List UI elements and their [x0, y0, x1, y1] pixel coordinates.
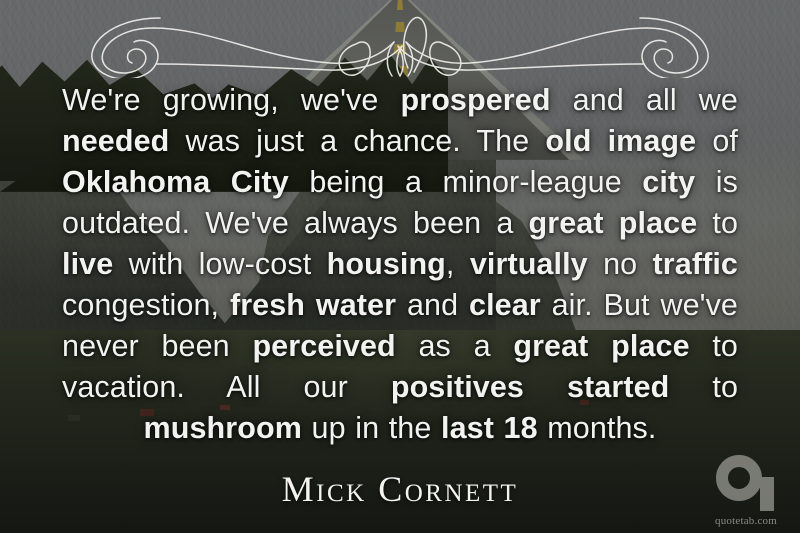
quote-run: no [588, 247, 653, 281]
quote-emphasis: image [608, 124, 697, 158]
quote-emphasis: perceived [252, 329, 395, 363]
quote-emphasis: live [62, 247, 113, 281]
quote-run: of [696, 124, 738, 158]
quote-run: and all we [551, 83, 738, 117]
quote-run [524, 370, 567, 404]
quote-run [494, 411, 504, 445]
quote-run [588, 329, 611, 363]
watermark-site-label: quotetab.com [700, 515, 792, 527]
quote-emphasis: positives [391, 370, 524, 404]
quote-emphasis: great [513, 329, 588, 363]
quote-run: with low-cost [113, 247, 326, 281]
quote-run: to [669, 370, 738, 404]
quote-run [591, 124, 607, 158]
quote-run: was just a chance. The [169, 124, 545, 158]
quote-emphasis: traffic [653, 247, 738, 281]
quote-emphasis: water [316, 288, 396, 322]
flourish-ornament-icon [60, 6, 740, 78]
watermark[interactable]: quotetab.com [700, 455, 792, 527]
logo-ring [716, 455, 762, 501]
quote-run: being a minor-league [289, 165, 642, 199]
quote-emphasis: place [619, 206, 698, 240]
quote-emphasis: 18 [504, 411, 538, 445]
quote-run [210, 165, 231, 199]
quote-emphasis: clear [469, 288, 541, 322]
quote-emphasis: Oklahoma [62, 165, 210, 199]
quote-run: to [697, 206, 738, 240]
quote-emphasis: mushroom [144, 411, 302, 445]
quote-text: We're growing, we've prospered and all w… [62, 80, 738, 449]
quotetab-logo-icon[interactable] [716, 455, 776, 513]
quote-emphasis: City [231, 165, 289, 199]
quote-author: Mick Cornett [0, 468, 800, 510]
quote-emphasis: last [441, 411, 494, 445]
quote-run: and [396, 288, 469, 322]
quote-run [305, 288, 316, 322]
quote-run: as a [396, 329, 514, 363]
quote-run: months. [538, 411, 657, 445]
quote-emphasis: fresh [230, 288, 305, 322]
logo-tail [760, 477, 774, 511]
quote-emphasis: needed [62, 124, 169, 158]
quote-emphasis: city [642, 165, 695, 199]
quote-emphasis: place [611, 329, 690, 363]
quote-run: congestion, [62, 288, 230, 322]
quote-card: We're growing, we've prospered and all w… [0, 0, 800, 533]
quote-emphasis: old [545, 124, 591, 158]
quote-emphasis: started [567, 370, 669, 404]
quote-run [604, 206, 619, 240]
quote-run: We're growing, we've [62, 83, 401, 117]
quote-run: up in the [302, 411, 441, 445]
quote-emphasis: great [529, 206, 604, 240]
quote-emphasis: housing [327, 247, 446, 281]
quote-run: , [446, 247, 470, 281]
quote-emphasis: prospered [401, 83, 551, 117]
quote-emphasis: virtually [470, 247, 588, 281]
